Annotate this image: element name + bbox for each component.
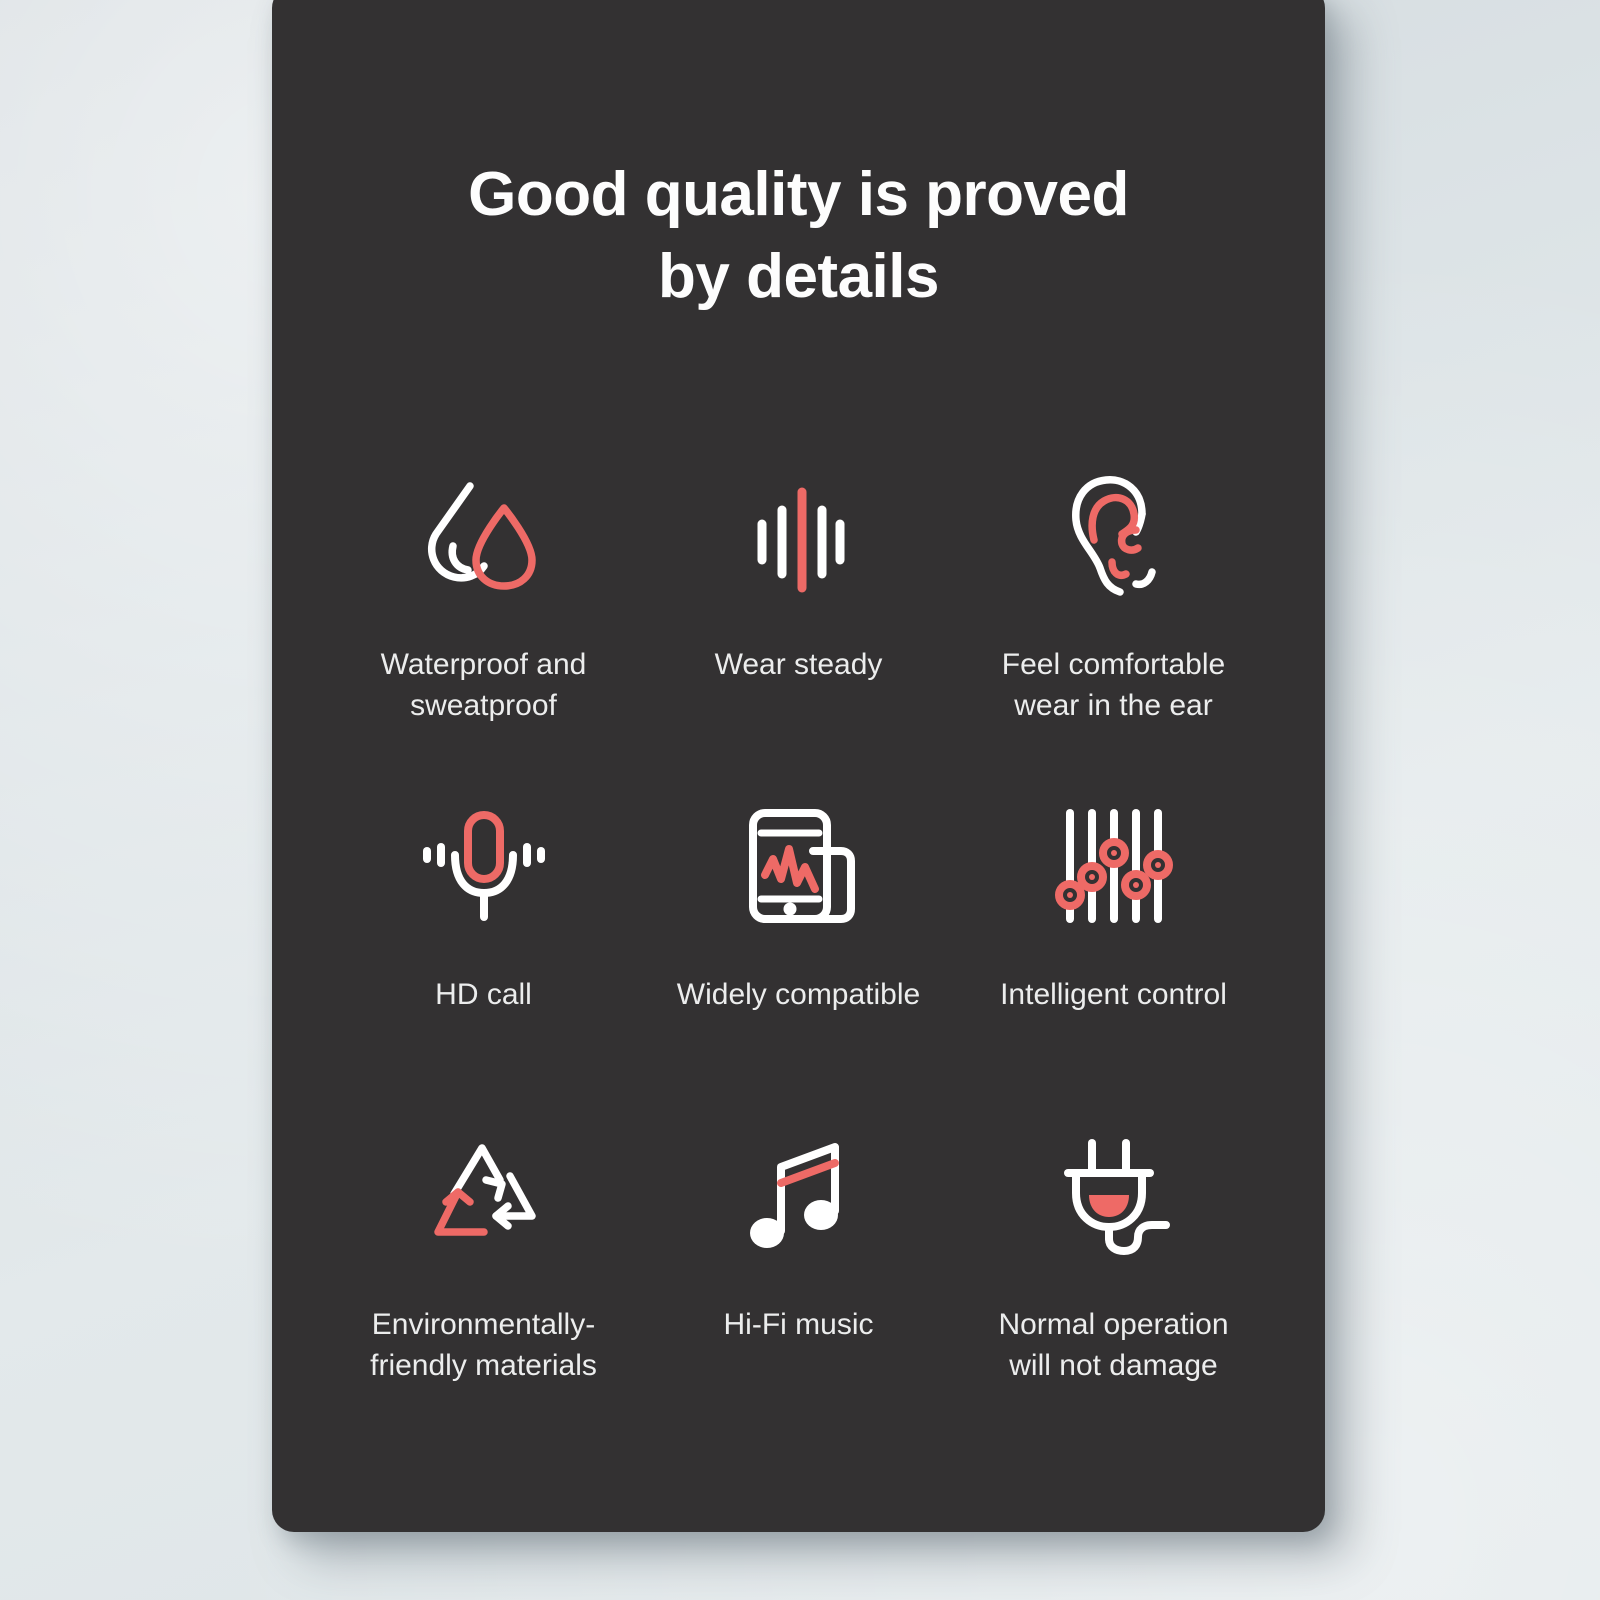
feature-card: Good quality is proved by details Waterp… <box>272 0 1325 1532</box>
feature-label: Feel comfortable wear in the ear <box>1002 645 1225 727</box>
feature-label: Waterproof and sweatproof <box>381 645 587 727</box>
feature-label: Environmentally- friendly materials <box>370 1305 597 1387</box>
feature-grid: Waterproof and sweatproof Wear steady <box>272 471 1325 1461</box>
feature-label-line-1: HD call <box>435 978 532 1011</box>
feature-label-line-1: Hi-Fi music <box>724 1308 874 1341</box>
feature-label: Hi-Fi music <box>724 1305 874 1346</box>
smartphone-tablet-icon <box>741 801 857 931</box>
feature-label: HD call <box>435 975 532 1016</box>
feature-label-line-1: Widely compatible <box>677 978 920 1011</box>
feature-label: Widely compatible <box>677 975 920 1016</box>
feature-label-line-2: will not damage <box>998 1346 1228 1387</box>
feature-label: Wear steady <box>715 645 883 686</box>
page-title: Good quality is proved by details <box>272 0 1325 319</box>
feature-item-widely-compatible: Widely compatible <box>641 801 956 1131</box>
sound-bars-icon <box>754 471 844 601</box>
recycle-icon <box>424 1131 544 1261</box>
microphone-icon <box>423 801 545 931</box>
feature-label-line-2: sweatproof <box>381 686 587 727</box>
feature-label-line-2: friendly materials <box>370 1346 597 1387</box>
feature-label-line-1: Environmentally- <box>372 1308 595 1341</box>
feature-label-line-1: Waterproof and <box>381 648 587 681</box>
feature-label: Intelligent control <box>1000 975 1227 1016</box>
feature-item-hd-call: HD call <box>326 801 641 1131</box>
feature-label: Normal operation will not damage <box>998 1305 1228 1387</box>
feature-item-wear-steady: Wear steady <box>641 471 956 801</box>
page-title-line-1: Good quality is proved <box>272 154 1325 236</box>
feature-item-eco-materials: Environmentally- friendly materials <box>326 1131 641 1461</box>
power-plug-icon <box>1056 1131 1172 1261</box>
feature-item-comfortable-ear: Feel comfortable wear in the ear <box>956 471 1271 801</box>
feature-item-normal-operation: Normal operation will not damage <box>956 1131 1271 1461</box>
feature-item-intelligent-control: Intelligent control <box>956 801 1271 1131</box>
feature-item-waterproof: Waterproof and sweatproof <box>326 471 641 801</box>
feature-label-line-1: Intelligent control <box>1000 978 1227 1011</box>
feature-label-line-1: Wear steady <box>715 648 883 681</box>
water-drop-icon <box>422 471 546 601</box>
feature-label-line-2: wear in the ear <box>1002 686 1225 727</box>
page-title-line-2: by details <box>272 236 1325 318</box>
feature-label-line-1: Normal operation <box>998 1308 1228 1341</box>
ear-icon <box>1064 471 1164 601</box>
feature-label-line-1: Feel comfortable <box>1002 648 1225 681</box>
sliders-icon <box>1061 801 1167 931</box>
music-note-icon <box>747 1131 851 1261</box>
feature-item-hifi-music: Hi-Fi music <box>641 1131 956 1461</box>
